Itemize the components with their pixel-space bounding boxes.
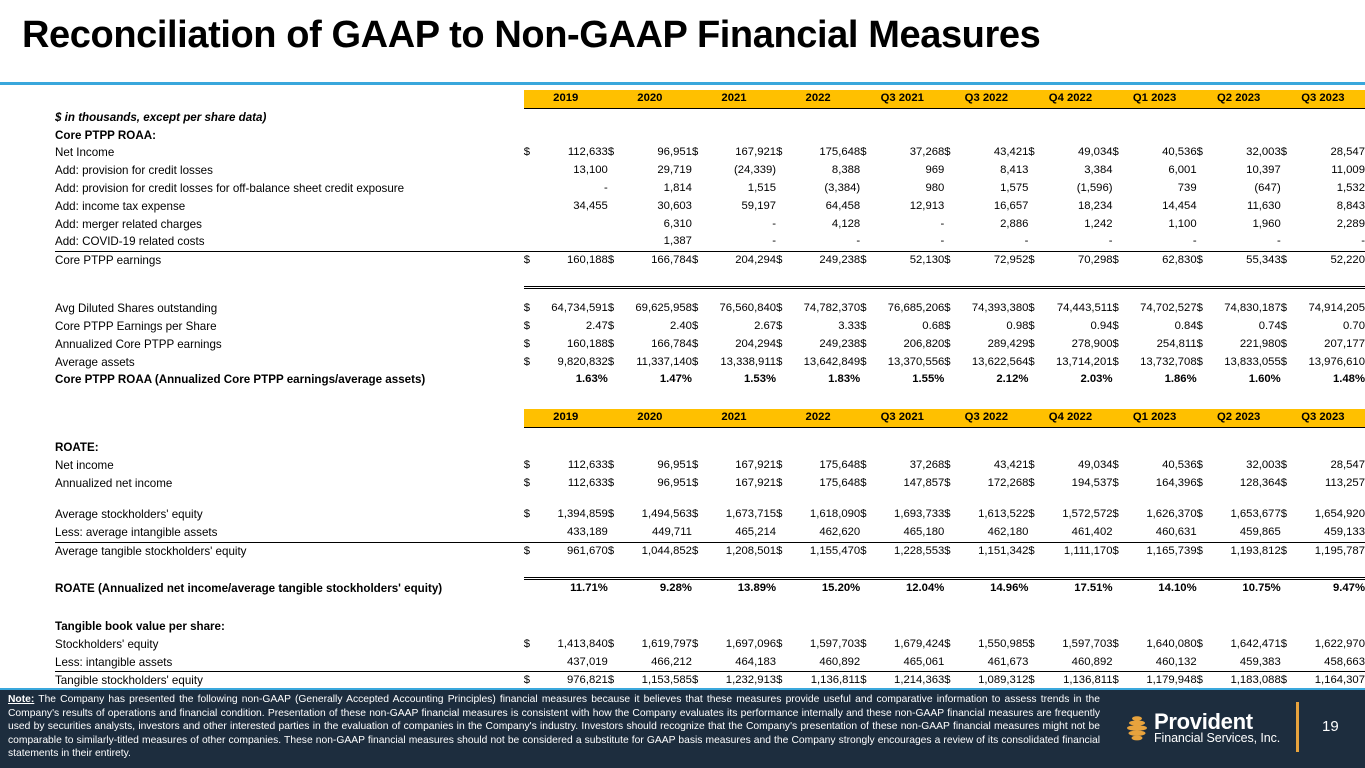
row-label: Average stockholders' equity xyxy=(55,506,524,524)
cell-value: 1,619,797 xyxy=(621,636,692,654)
cell-value: 28,547 xyxy=(1294,144,1365,162)
cell-value: 13,714,201 xyxy=(1041,354,1112,372)
cell-value: 12.04% xyxy=(873,579,944,598)
currency-symbol xyxy=(860,492,873,506)
cell-value: 1.83% xyxy=(789,371,860,389)
cell-value: 37,268 xyxy=(873,457,944,475)
currency-symbol xyxy=(524,180,537,198)
currency-symbol xyxy=(608,492,621,506)
cell-value: 32,003 xyxy=(1210,144,1281,162)
currency-symbol: $ xyxy=(860,336,873,354)
cell-value: 1,597,703 xyxy=(1041,636,1112,654)
currency-symbol xyxy=(1028,180,1041,198)
currency-symbol: $ xyxy=(1113,252,1126,270)
currency-symbol xyxy=(524,492,537,506)
cell-value: 980 xyxy=(873,180,944,198)
cell-value xyxy=(1041,492,1112,506)
cell-value: 13,976,610 xyxy=(1294,354,1365,372)
cell-value: 1,193,812 xyxy=(1210,543,1281,561)
units-note-row: $ in thousands, except per share data) xyxy=(55,108,1365,126)
currency-symbol: $ xyxy=(944,318,957,336)
cell-value: 40,536 xyxy=(1126,144,1197,162)
currency-symbol xyxy=(1197,216,1210,234)
cell-value: 459,133 xyxy=(1294,524,1365,542)
cell-value: 0.84 xyxy=(1126,318,1197,336)
table-row: Average stockholders' equity$1,394,859$1… xyxy=(55,506,1365,524)
currency-symbol: $ xyxy=(692,475,705,493)
cell-value: 13,370,556 xyxy=(873,354,944,372)
cell-value: 1,550,985 xyxy=(957,636,1028,654)
currency-symbol xyxy=(524,524,537,542)
currency-symbol xyxy=(860,198,873,216)
currency-symbol: $ xyxy=(608,336,621,354)
currency-symbol xyxy=(860,579,873,598)
row-label: Add: COVID-19 related costs xyxy=(55,233,524,251)
currency-symbol: $ xyxy=(1197,636,1210,654)
currency-symbol xyxy=(1028,524,1041,542)
column-header-2019: 2019 xyxy=(524,90,608,108)
currency-symbol: $ xyxy=(1281,506,1294,524)
cell-value: 461,673 xyxy=(957,654,1028,672)
currency-symbol xyxy=(1197,371,1210,389)
currency-symbol xyxy=(1028,162,1041,180)
currency-symbol xyxy=(944,654,957,672)
currency-symbol: $ xyxy=(608,506,621,524)
cell-value: 204,294 xyxy=(705,336,776,354)
cell-value: 76,685,206 xyxy=(873,300,944,318)
cell-value: 37,268 xyxy=(873,144,944,162)
cell-value: 59,197 xyxy=(705,198,776,216)
cell-value: 1,151,342 xyxy=(957,543,1028,561)
currency-symbol: $ xyxy=(860,354,873,372)
table-row: Core PTPP earnings$160,188$166,784$204,2… xyxy=(55,252,1365,270)
cell-value: 34,455 xyxy=(537,198,608,216)
cell-value: 74,830,187 xyxy=(1210,300,1281,318)
table-row: Add: provision for credit losses13,10029… xyxy=(55,162,1365,180)
currency-symbol xyxy=(1113,371,1126,389)
cell-value: 1,242 xyxy=(1041,216,1112,234)
cell-value: 1,626,370 xyxy=(1126,506,1197,524)
currency-symbol: $ xyxy=(1113,300,1126,318)
currency-symbol xyxy=(1281,654,1294,672)
cell-value: 0.70 xyxy=(1294,318,1365,336)
currency-symbol xyxy=(524,216,537,234)
note-body: The Company has presented the following … xyxy=(8,694,1100,759)
currency-symbol: $ xyxy=(944,252,957,270)
currency-symbol xyxy=(1028,198,1041,216)
cell-value: - xyxy=(957,233,1028,251)
currency-symbol xyxy=(608,162,621,180)
table-row: Add: COVID-19 related costs1,387-------- xyxy=(55,233,1365,251)
cell-value: - xyxy=(1041,233,1112,251)
currency-symbol: $ xyxy=(1197,506,1210,524)
currency-symbol: $ xyxy=(524,354,537,372)
cell-value: 10,397 xyxy=(1210,162,1281,180)
cell-value: 2.12% xyxy=(957,371,1028,389)
currency-symbol: $ xyxy=(692,336,705,354)
currency-symbol xyxy=(1281,579,1294,598)
currency-symbol: $ xyxy=(1028,300,1041,318)
currency-symbol xyxy=(860,216,873,234)
cell-value: 221,980 xyxy=(1210,336,1281,354)
cell-value: 29,719 xyxy=(621,162,692,180)
column-header-q3-2022: Q3 2022 xyxy=(944,90,1028,108)
currency-symbol: $ xyxy=(1113,506,1126,524)
beehive-logo-icon xyxy=(1125,715,1149,741)
page-number: 19 xyxy=(1322,718,1339,735)
cell-value xyxy=(1126,492,1197,506)
cell-value: 12,913 xyxy=(873,198,944,216)
cell-value: 14.10% xyxy=(1126,579,1197,598)
currency-symbol: $ xyxy=(944,506,957,524)
currency-symbol: $ xyxy=(524,336,537,354)
cell-value: 207,177 xyxy=(1294,336,1365,354)
column-header-2019: 2019 xyxy=(524,409,608,427)
cell-value: 13.89% xyxy=(705,579,776,598)
cell-value xyxy=(705,492,776,506)
cell-value: 2,886 xyxy=(957,216,1028,234)
cell-value xyxy=(537,216,608,234)
column-header-2021: 2021 xyxy=(692,90,776,108)
cell-value: 206,820 xyxy=(873,336,944,354)
currency-symbol: $ xyxy=(692,318,705,336)
currency-symbol: $ xyxy=(1113,636,1126,654)
table-row: Stockholders' equity$1,413,840$1,619,797… xyxy=(55,636,1365,654)
cell-value: 462,180 xyxy=(957,524,1028,542)
currency-symbol: $ xyxy=(608,543,621,561)
cell-value: 1,575 xyxy=(957,180,1028,198)
cell-value: 1,394,859 xyxy=(537,506,608,524)
cell-value: 72,952 xyxy=(957,252,1028,270)
currency-symbol xyxy=(776,654,789,672)
currency-symbol xyxy=(776,524,789,542)
cell-value: (3,384) xyxy=(789,180,860,198)
cell-value: 112,633 xyxy=(537,475,608,493)
currency-symbol xyxy=(608,216,621,234)
column-header-2022: 2022 xyxy=(776,90,860,108)
currency-symbol: $ xyxy=(776,543,789,561)
cell-value: 40,536 xyxy=(1126,457,1197,475)
cell-value: 465,214 xyxy=(705,524,776,542)
spacer-row xyxy=(55,389,1365,409)
cell-value: 460,132 xyxy=(1126,654,1197,672)
cell-value: 0.94 xyxy=(1041,318,1112,336)
cell-value: 52,130 xyxy=(873,252,944,270)
cell-value: 96,951 xyxy=(621,475,692,493)
currency-symbol: $ xyxy=(776,336,789,354)
currency-symbol: $ xyxy=(1113,457,1126,475)
cell-value: 6,001 xyxy=(1126,162,1197,180)
cell-value: 1,697,096 xyxy=(705,636,776,654)
cell-value xyxy=(1294,492,1365,506)
cell-value: 172,268 xyxy=(957,475,1028,493)
cell-value: 204,294 xyxy=(705,252,776,270)
cell-value: 113,257 xyxy=(1294,475,1365,493)
row-label: Add: provision for credit losses for off… xyxy=(55,180,524,198)
currency-symbol xyxy=(1197,654,1210,672)
table-row: Core PTPP ROAA (Annualized Core PTPP ear… xyxy=(55,371,1365,389)
currency-symbol xyxy=(776,216,789,234)
currency-symbol xyxy=(944,198,957,216)
currency-symbol xyxy=(1028,216,1041,234)
cell-value: 13,338,911 xyxy=(705,354,776,372)
cell-value: 64,458 xyxy=(789,198,860,216)
currency-symbol xyxy=(1281,180,1294,198)
currency-symbol: $ xyxy=(776,457,789,475)
column-header-q4-2022: Q4 2022 xyxy=(1028,409,1112,427)
cell-value: 2.67 xyxy=(705,318,776,336)
cell-value: 460,892 xyxy=(1041,654,1112,672)
currency-symbol: $ xyxy=(608,300,621,318)
currency-symbol: $ xyxy=(1197,318,1210,336)
currency-symbol xyxy=(1197,233,1210,251)
cell-value xyxy=(621,492,692,506)
currency-symbol: $ xyxy=(1113,336,1126,354)
currency-symbol: $ xyxy=(1281,457,1294,475)
currency-symbol: $ xyxy=(1113,475,1126,493)
cell-value: 437,019 xyxy=(537,654,608,672)
cell-value: 1,618,090 xyxy=(789,506,860,524)
currency-symbol xyxy=(860,524,873,542)
currency-symbol xyxy=(1281,233,1294,251)
currency-symbol: $ xyxy=(1028,457,1041,475)
cell-value: - xyxy=(789,233,860,251)
currency-symbol: $ xyxy=(1281,475,1294,493)
currency-symbol: $ xyxy=(944,354,957,372)
section-heading: Core PTPP ROAA: xyxy=(55,127,1365,145)
table-row: Net income$112,633$96,951$167,921$175,64… xyxy=(55,457,1365,475)
currency-symbol xyxy=(692,180,705,198)
currency-symbol xyxy=(1281,371,1294,389)
cell-value: 9.28% xyxy=(621,579,692,598)
table-row: Core PTPP Earnings per Share$2.47$2.40$2… xyxy=(55,318,1365,336)
currency-symbol: $ xyxy=(1281,336,1294,354)
currency-symbol xyxy=(776,233,789,251)
cell-value: 1,654,920 xyxy=(1294,506,1365,524)
currency-symbol xyxy=(608,654,621,672)
cell-value: 1,413,840 xyxy=(537,636,608,654)
cell-value: 433,189 xyxy=(537,524,608,542)
cell-value: 49,034 xyxy=(1041,457,1112,475)
currency-symbol: $ xyxy=(524,252,537,270)
currency-symbol xyxy=(1113,162,1126,180)
footer-bar: Note: The Company has presented the foll… xyxy=(0,688,1365,768)
currency-symbol: $ xyxy=(1028,144,1041,162)
currency-symbol xyxy=(608,180,621,198)
currency-symbol xyxy=(692,492,705,506)
cell-value xyxy=(1210,492,1281,506)
cell-value xyxy=(537,492,608,506)
cell-value: 1,155,470 xyxy=(789,543,860,561)
currency-symbol xyxy=(944,162,957,180)
cell-value: 13,622,564 xyxy=(957,354,1028,372)
cell-value: 112,633 xyxy=(537,457,608,475)
logo-company-sub: Financial Services, Inc. xyxy=(1154,732,1280,745)
cell-value: 147,857 xyxy=(873,475,944,493)
row-label: Avg Diluted Shares outstanding xyxy=(55,300,524,318)
cell-value: - xyxy=(705,216,776,234)
currency-symbol: $ xyxy=(1113,543,1126,561)
row-label: Core PTPP Earnings per Share xyxy=(55,318,524,336)
currency-symbol xyxy=(1197,524,1210,542)
cell-value xyxy=(537,233,608,251)
table-row: Annualized net income$112,633$96,951$167… xyxy=(55,475,1365,493)
currency-symbol xyxy=(692,371,705,389)
currency-symbol: $ xyxy=(608,144,621,162)
table-row: Average tangible stockholders' equity$96… xyxy=(55,543,1365,561)
cell-value: 278,900 xyxy=(1041,336,1112,354)
header-spacer xyxy=(55,90,524,108)
currency-symbol xyxy=(1113,233,1126,251)
column-header-q2-2023: Q2 2023 xyxy=(1197,409,1281,427)
currency-symbol: $ xyxy=(860,506,873,524)
cell-value xyxy=(873,492,944,506)
cell-value: 465,061 xyxy=(873,654,944,672)
cell-value: 254,811 xyxy=(1126,336,1197,354)
cell-value: 1,642,471 xyxy=(1210,636,1281,654)
currency-symbol: $ xyxy=(1028,336,1041,354)
currency-symbol: $ xyxy=(776,144,789,162)
section-heading: Tangible book value per share: xyxy=(55,618,1365,636)
currency-symbol xyxy=(608,524,621,542)
currency-symbol xyxy=(1028,492,1041,506)
column-header-q2-2023: Q2 2023 xyxy=(1197,90,1281,108)
currency-symbol: $ xyxy=(860,475,873,493)
cell-value: 175,648 xyxy=(789,457,860,475)
currency-symbol xyxy=(1028,371,1041,389)
currency-symbol: $ xyxy=(1197,144,1210,162)
currency-symbol xyxy=(524,579,537,598)
currency-symbol: $ xyxy=(692,300,705,318)
currency-symbol: $ xyxy=(692,636,705,654)
cell-value: 43,421 xyxy=(957,457,1028,475)
table-row: Net Income$112,633$96,951$167,921$175,64… xyxy=(55,144,1365,162)
currency-symbol: $ xyxy=(860,318,873,336)
column-header-2020: 2020 xyxy=(608,409,692,427)
cell-value: 2.47 xyxy=(537,318,608,336)
cell-value: 160,188 xyxy=(537,252,608,270)
cell-value: 1,572,572 xyxy=(1041,506,1112,524)
column-header-q3-2021: Q3 2021 xyxy=(860,90,944,108)
currency-symbol xyxy=(860,180,873,198)
table-row: ROATE (Annualized net income/average tan… xyxy=(55,579,1365,598)
cell-value: 1,044,852 xyxy=(621,543,692,561)
currency-symbol xyxy=(1113,579,1126,598)
cell-value: 74,914,205 xyxy=(1294,300,1365,318)
column-header-row-1: 2019202020212022Q3 2021Q3 2022Q4 2022Q1 … xyxy=(55,90,1365,108)
cell-value: 1,673,715 xyxy=(705,506,776,524)
cell-value: 462,620 xyxy=(789,524,860,542)
row-label: Add: income tax expense xyxy=(55,198,524,216)
cell-value: 64,734,591 xyxy=(537,300,608,318)
cell-value: 194,537 xyxy=(1041,475,1112,493)
currency-symbol: $ xyxy=(1028,354,1041,372)
table-row xyxy=(55,492,1365,506)
row-label: Annualized Core PTPP earnings xyxy=(55,336,524,354)
cell-value: 74,393,380 xyxy=(957,300,1028,318)
cell-value: 1.55% xyxy=(873,371,944,389)
cell-value: 1,111,170 xyxy=(1041,543,1112,561)
reconciliation-table: 2019202020212022Q3 2021Q3 2022Q4 2022Q1 … xyxy=(55,90,1365,745)
cell-value: 1,622,970 xyxy=(1294,636,1365,654)
currency-symbol xyxy=(1281,216,1294,234)
currency-symbol xyxy=(776,371,789,389)
currency-symbol: $ xyxy=(1028,252,1041,270)
currency-symbol: $ xyxy=(1028,506,1041,524)
cell-value: 15.20% xyxy=(789,579,860,598)
currency-symbol xyxy=(944,180,957,198)
currency-symbol: $ xyxy=(944,457,957,475)
cell-value: 1,195,787 xyxy=(1294,543,1365,561)
cell-value: 1,960 xyxy=(1210,216,1281,234)
cell-value: 13,732,708 xyxy=(1126,354,1197,372)
cell-value: 969 xyxy=(873,162,944,180)
column-header-row-2: 2019202020212022Q3 2021Q3 2022Q4 2022Q1 … xyxy=(55,409,1365,427)
currency-symbol xyxy=(1113,524,1126,542)
cell-value: 1,387 xyxy=(621,233,692,251)
currency-symbol xyxy=(776,492,789,506)
currency-symbol xyxy=(944,371,957,389)
row-label: Annualized net income xyxy=(55,475,524,493)
currency-symbol: $ xyxy=(1113,318,1126,336)
cell-value: 8,843 xyxy=(1294,198,1365,216)
cell-value: 112,633 xyxy=(537,144,608,162)
total-rule-row xyxy=(55,270,1365,288)
cell-value: 13,100 xyxy=(537,162,608,180)
currency-symbol: $ xyxy=(776,506,789,524)
cell-value: 460,631 xyxy=(1126,524,1197,542)
currency-symbol: $ xyxy=(776,636,789,654)
cell-value: 1.53% xyxy=(705,371,776,389)
currency-symbol: $ xyxy=(1281,300,1294,318)
cell-value: 166,784 xyxy=(621,252,692,270)
cell-value: 11,630 xyxy=(1210,198,1281,216)
currency-symbol: $ xyxy=(692,457,705,475)
currency-symbol xyxy=(1197,492,1210,506)
currency-symbol xyxy=(776,162,789,180)
column-header-q1-2023: Q1 2023 xyxy=(1113,90,1197,108)
currency-symbol: $ xyxy=(860,543,873,561)
currency-symbol: $ xyxy=(692,354,705,372)
spacer-row xyxy=(55,428,1365,440)
cell-value: 464,183 xyxy=(705,654,776,672)
currency-symbol xyxy=(944,233,957,251)
cell-value: - xyxy=(1126,233,1197,251)
cell-value: 1,653,677 xyxy=(1210,506,1281,524)
currency-symbol: $ xyxy=(608,354,621,372)
cell-value: 18,234 xyxy=(1041,198,1112,216)
currency-symbol xyxy=(1113,216,1126,234)
table-row: Avg Diluted Shares outstanding$64,734,59… xyxy=(55,300,1365,318)
section-heading-row: Tangible book value per share: xyxy=(55,618,1365,636)
cell-value: (1,596) xyxy=(1041,180,1112,198)
currency-symbol xyxy=(1197,162,1210,180)
cell-value: 1,640,080 xyxy=(1126,636,1197,654)
currency-symbol: $ xyxy=(1197,300,1210,318)
table-row: Average assets$9,820,832$11,337,140$13,3… xyxy=(55,354,1365,372)
cell-value: 459,383 xyxy=(1210,654,1281,672)
currency-symbol xyxy=(692,233,705,251)
currency-symbol: $ xyxy=(692,144,705,162)
cell-value: 1.60% xyxy=(1210,371,1281,389)
currency-symbol: $ xyxy=(776,318,789,336)
currency-symbol: $ xyxy=(608,252,621,270)
currency-symbol xyxy=(1281,492,1294,506)
currency-symbol: $ xyxy=(944,475,957,493)
cell-value: 32,003 xyxy=(1210,457,1281,475)
cell-value: 1,515 xyxy=(705,180,776,198)
cell-value: (647) xyxy=(1210,180,1281,198)
